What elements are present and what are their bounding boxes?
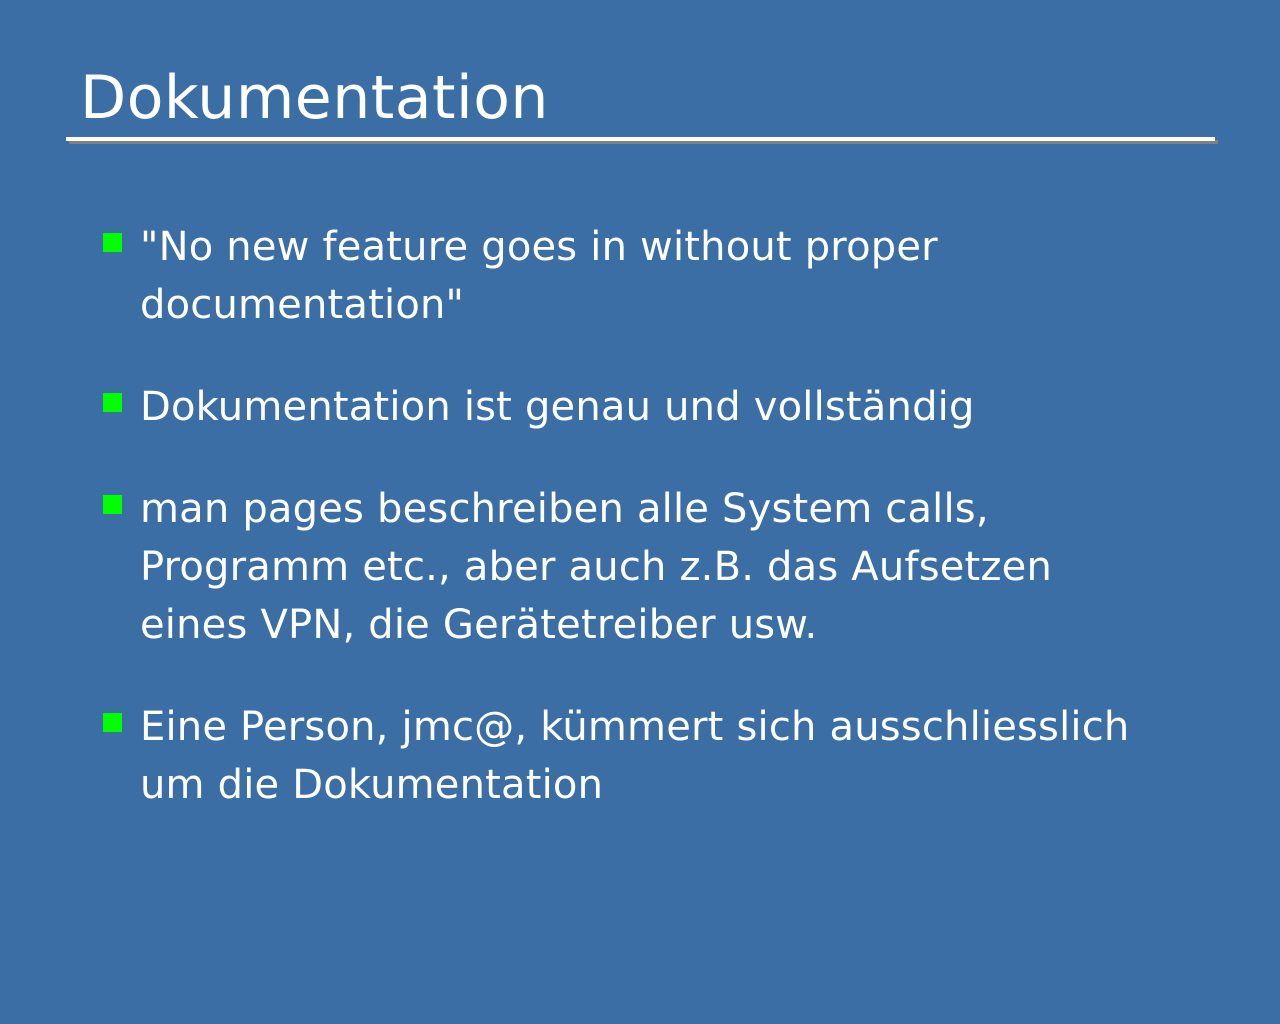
list-item: Eine Person, jmc@, kümmert sich ausschli…: [103, 698, 1203, 814]
list-item: man pages beschreiben alle System calls,…: [103, 480, 1203, 654]
list-item: "No new feature goes in without proper d…: [103, 218, 1203, 334]
green-square-bullet-icon: [103, 233, 122, 252]
bullet-text: Dokumentation ist genau und vollständig: [140, 378, 1160, 436]
green-square-bullet-icon: [103, 713, 122, 732]
bullet-list: "No new feature goes in without proper d…: [103, 218, 1203, 814]
bullet-text: man pages beschreiben alle System calls,…: [140, 480, 1105, 654]
green-square-bullet-icon: [103, 495, 122, 514]
title-underline-line: [66, 137, 1215, 141]
bullet-text: Eine Person, jmc@, kümmert sich ausschli…: [140, 698, 1160, 814]
list-item: Dokumentation ist genau und vollständig: [103, 378, 1203, 436]
slide-title-block: Dokumentation: [66, 62, 1218, 144]
green-square-bullet-icon: [103, 393, 122, 412]
page-title: Dokumentation: [66, 62, 1218, 134]
presentation-slide: Dokumentation "No new feature goes in wi…: [0, 0, 1280, 1024]
bullet-text: "No new feature goes in without proper d…: [140, 218, 1000, 334]
title-underline-rule: [66, 137, 1215, 144]
